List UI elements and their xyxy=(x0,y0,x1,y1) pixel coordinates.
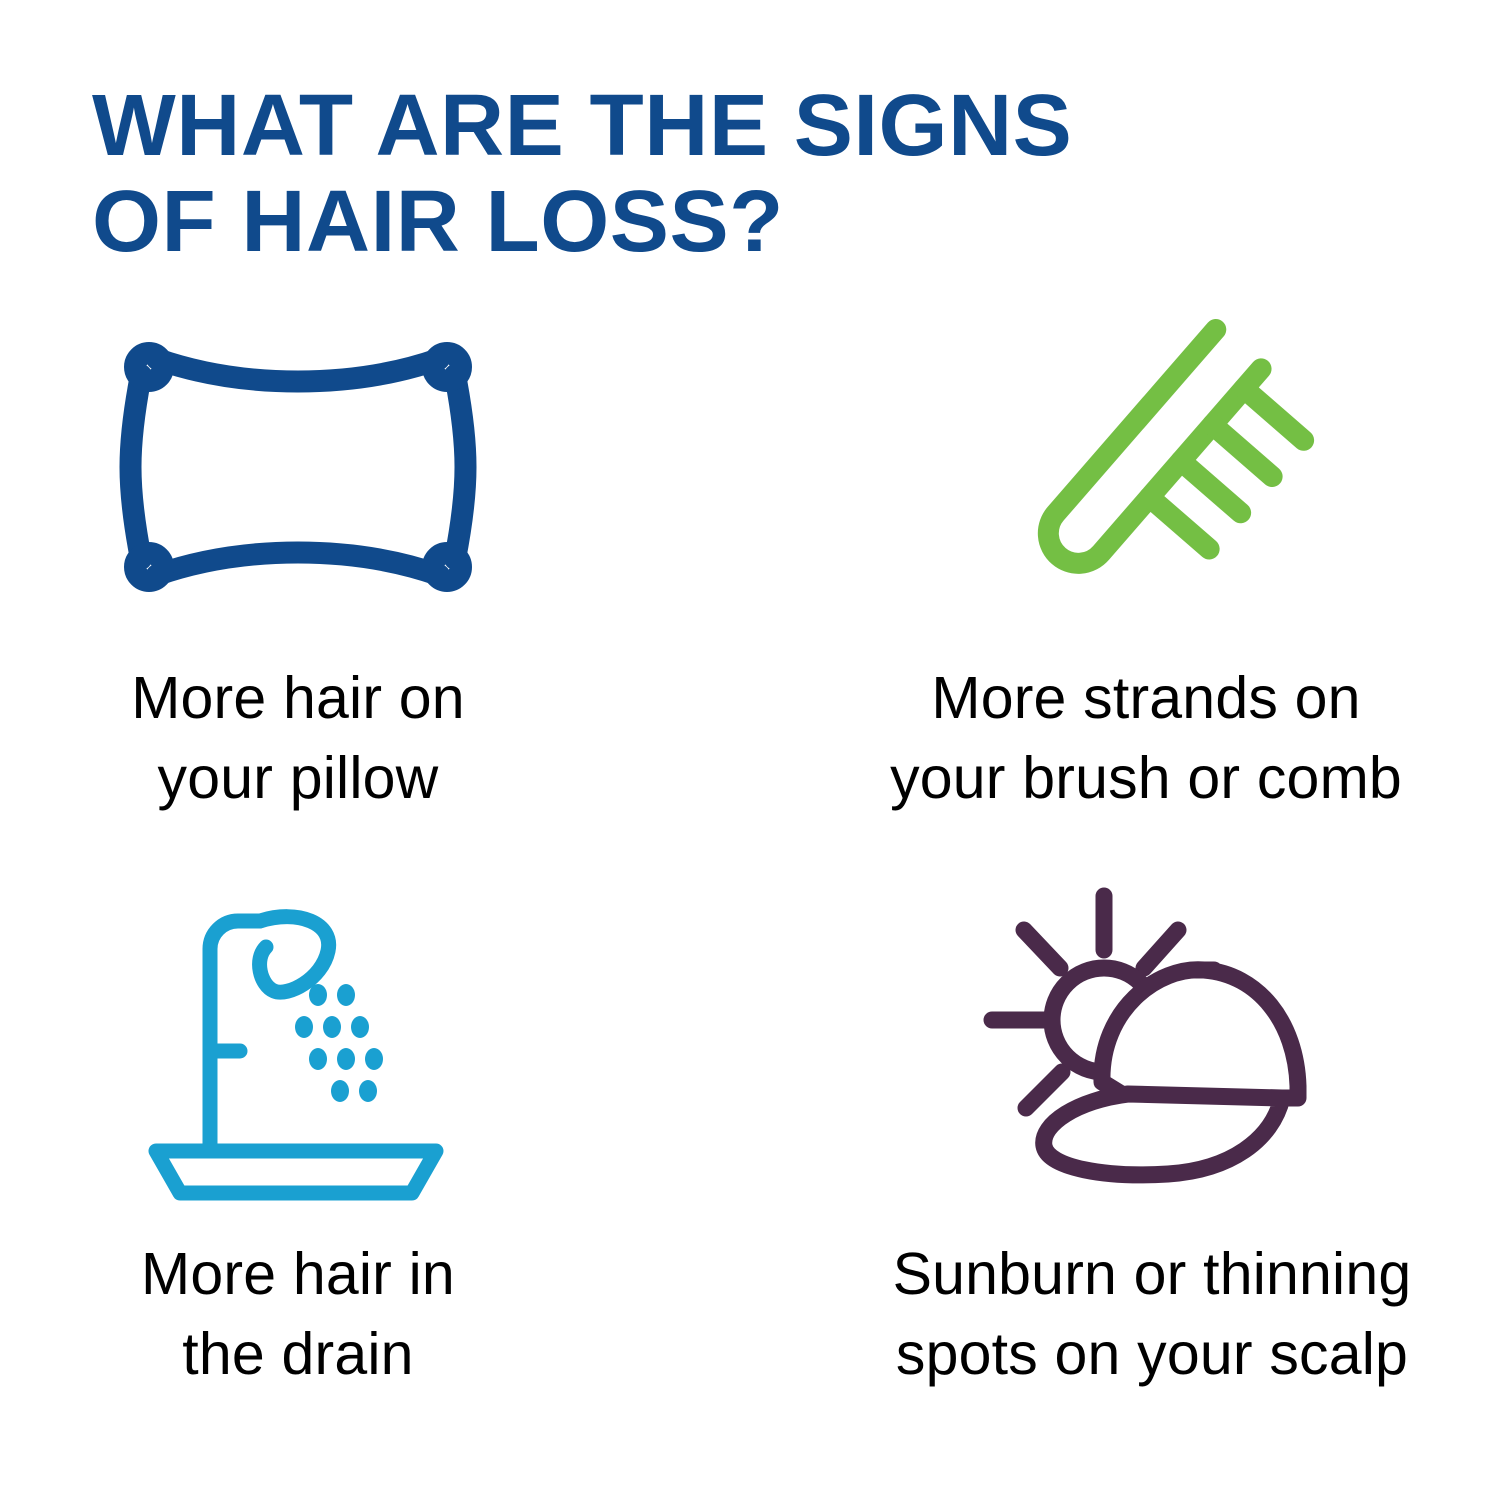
sign-caption-pillow: More hair on your pillow xyxy=(131,658,465,818)
caption-line-2: the drain xyxy=(141,1314,455,1394)
caption-line-2: your brush or comb xyxy=(890,738,1402,818)
infographic-page: WHAT ARE THE SIGNS OF HAIR LOSS? xyxy=(0,0,1500,1500)
shower-icon xyxy=(88,884,508,1214)
signs-grid: More hair on your pillow xyxy=(0,310,1500,1470)
sign-caption-comb: More strands on your brush or comb xyxy=(890,658,1402,818)
sign-item-comb: More strands on your brush or comb xyxy=(720,310,1500,870)
sun-cap-icon xyxy=(942,876,1362,1206)
sign-caption-shower: More hair in the drain xyxy=(141,1234,455,1394)
page-title: WHAT ARE THE SIGNS OF HAIR LOSS? xyxy=(92,78,1292,270)
page-title-line-2: OF HAIR LOSS? xyxy=(92,174,1316,270)
caption-line-2: your pillow xyxy=(131,738,465,818)
sign-item-pillow: More hair on your pillow xyxy=(0,310,720,870)
caption-line-1: More hair on xyxy=(131,658,465,738)
pillow-icon xyxy=(88,302,508,632)
page-title-line-1: WHAT ARE THE SIGNS xyxy=(92,78,1316,174)
caption-line-1: More strands on xyxy=(890,658,1402,738)
sign-item-shower: More hair in the drain xyxy=(0,870,720,1430)
comb-icon xyxy=(936,292,1356,622)
caption-line-1: Sunburn or thinning xyxy=(893,1234,1412,1314)
sign-item-sun-cap: Sunburn or thinning spots on your scalp xyxy=(720,870,1500,1430)
sign-caption-sun-cap: Sunburn or thinning spots on your scalp xyxy=(893,1234,1412,1394)
caption-line-2: spots on your scalp xyxy=(893,1314,1412,1394)
caption-line-1: More hair in xyxy=(141,1234,455,1314)
